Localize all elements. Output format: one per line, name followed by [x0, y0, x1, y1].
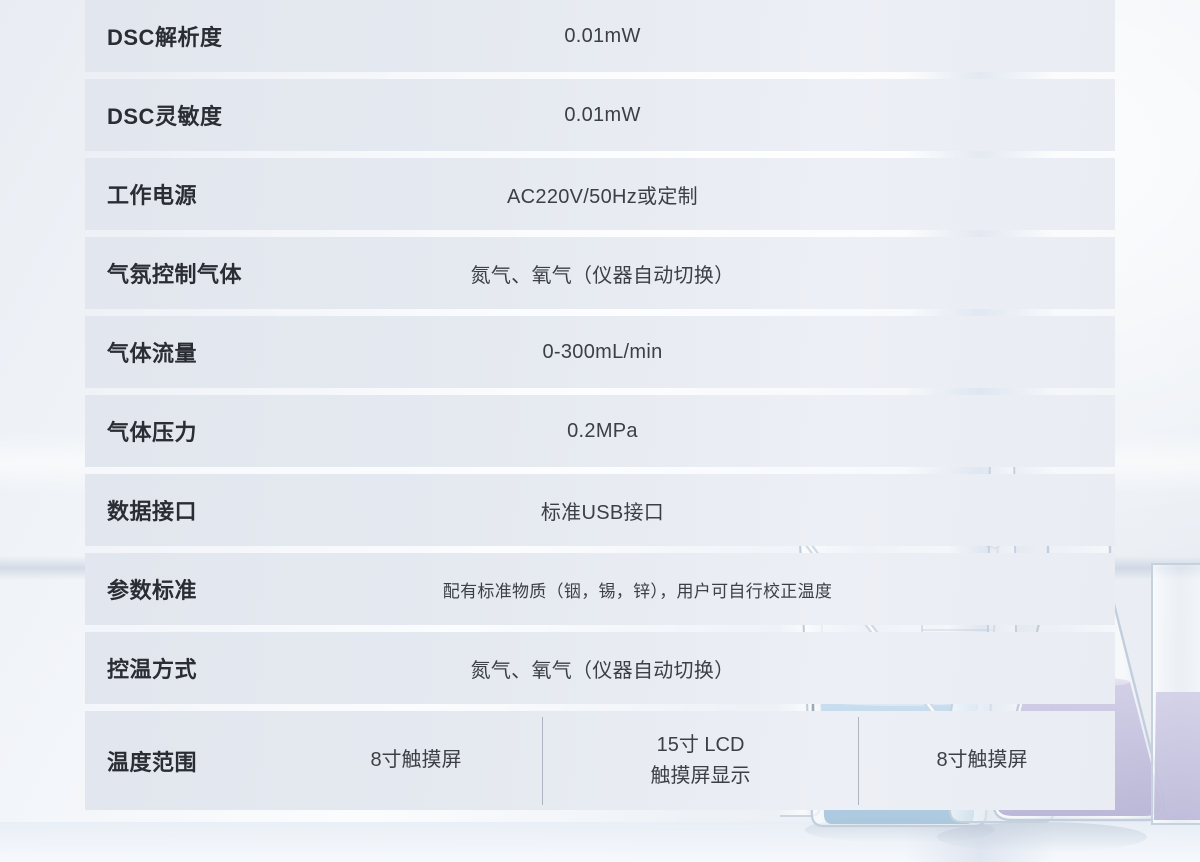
spec-value: 氮气、氧气（仪器自动切换）: [290, 259, 1115, 288]
spec-label: 温度范围: [85, 745, 290, 777]
display-option-2-line2: 触摸屏显示: [651, 765, 751, 787]
display-option-1: 8寸触摸屏: [290, 711, 542, 810]
spec-value: AC220V/50Hz或定制: [290, 180, 1115, 209]
table-row: DSC解析度 0.01mW: [85, 0, 1115, 72]
spec-value: 0.01mW: [290, 25, 1115, 48]
spec-label: 控温方式: [85, 652, 290, 684]
table-row: 控温方式 氮气、氧气（仪器自动切换）: [85, 632, 1115, 704]
specification-table: DSC解析度 0.01mW DSC灵敏度 0.01mW 工作电源 AC220V/…: [85, 0, 1115, 810]
table-row: DSC灵敏度 0.01mW: [85, 79, 1115, 151]
display-option-2-line1: 15寸 LCD: [657, 734, 745, 756]
display-option-2: 15寸 LCD 触摸屏显示: [543, 711, 858, 810]
spec-value: 0.01mW: [290, 104, 1115, 127]
table-row: 气氛控制气体 氮气、氧气（仪器自动切换）: [85, 237, 1115, 309]
spec-label: 气体流量: [85, 336, 290, 368]
conical-flask-right: [1152, 564, 1200, 824]
table-row: 气体流量 0-300mL/min: [85, 316, 1115, 388]
spec-value: 标准USB接口: [290, 496, 1115, 525]
table-row: 气体压力 0.2MPa: [85, 395, 1115, 467]
display-option-group: 8寸触摸屏 15寸 LCD 触摸屏显示 8寸触摸屏: [290, 711, 1115, 810]
display-option-3: 8寸触摸屏: [859, 711, 1115, 810]
spec-value: 0.2MPa: [290, 420, 1115, 443]
spec-value: 氮气、氧气（仪器自动切换）: [290, 654, 1115, 683]
table-row-display-options: 温度范围 8寸触摸屏 15寸 LCD 触摸屏显示 8寸触摸屏: [85, 711, 1115, 810]
spec-label: 气氛控制气体: [85, 257, 290, 289]
vertical-divider: [858, 717, 859, 805]
spec-label: DSC解析度: [85, 20, 290, 52]
table-row: 参数标准 配有标准物质（铟，锡，锌），用户可自行校正温度: [85, 553, 1115, 625]
vertical-divider: [542, 717, 543, 805]
table-row: 数据接口 标准USB接口: [85, 474, 1115, 546]
spec-label: 数据接口: [85, 494, 290, 526]
spec-label: 工作电源: [85, 178, 290, 210]
spec-value: 0-300mL/min: [290, 341, 1115, 364]
spec-label: 气体压力: [85, 415, 290, 447]
spec-value: 配有标准物质（铟，锡，锌），用户可自行校正温度: [290, 577, 1115, 602]
table-row: 工作电源 AC220V/50Hz或定制: [85, 158, 1115, 230]
spec-label: 参数标准: [85, 573, 290, 605]
spec-label: DSC灵敏度: [85, 99, 290, 131]
